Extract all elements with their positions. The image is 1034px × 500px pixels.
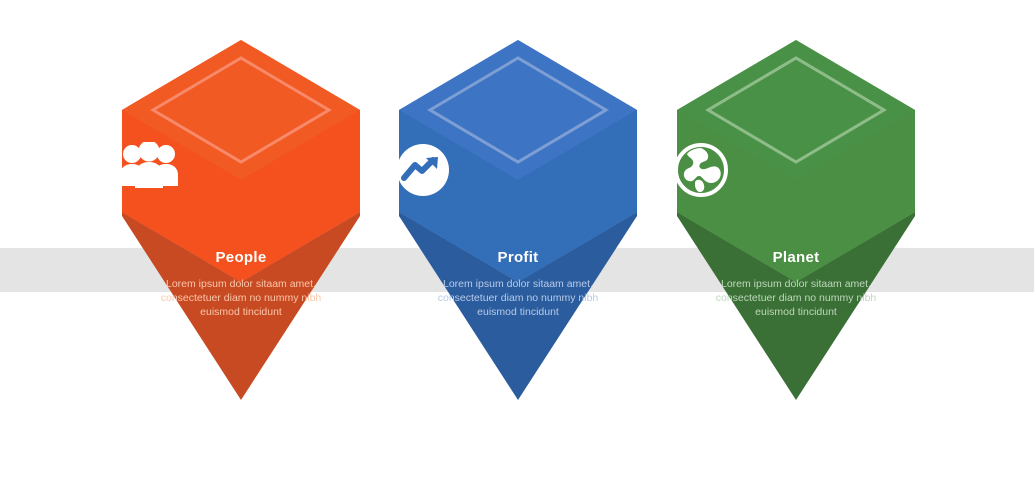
growth-chart-icon (395, 142, 451, 198)
hex-card-people-shape (118, 0, 364, 500)
hex-card-people[interactable]: People Lorem ipsum dolor sitaam amet, co… (118, 0, 364, 500)
hex-card-planet[interactable]: Planet Lorem ipsum dolor sitaam amet, co… (673, 0, 919, 500)
hex-card-planet-shape (673, 0, 919, 500)
hex-card-profit-shape (395, 0, 641, 500)
people-icon (118, 142, 180, 190)
infographic-canvas: People Lorem ipsum dolor sitaam amet, co… (0, 0, 1034, 500)
hex-card-profit[interactable]: Profit Lorem ipsum dolor sitaam amet, co… (395, 0, 641, 500)
globe-icon (673, 142, 729, 198)
